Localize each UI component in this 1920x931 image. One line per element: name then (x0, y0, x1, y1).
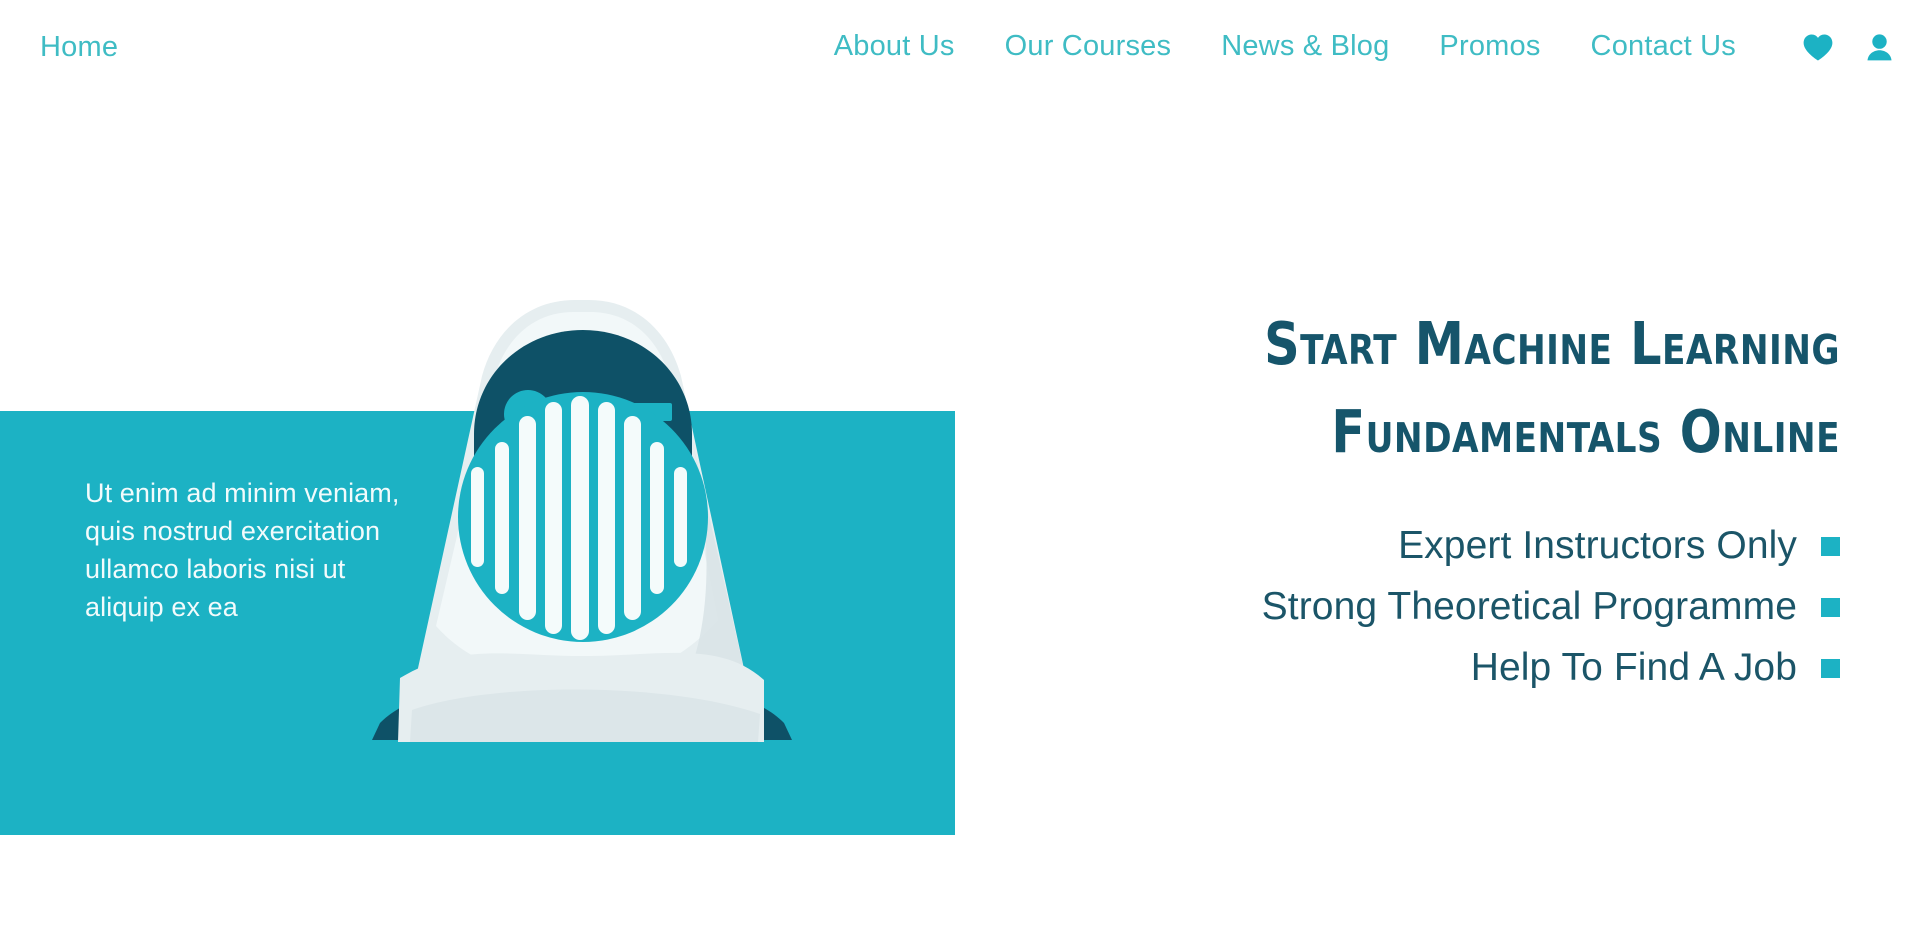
page-title: Start Machine Learning Fundamentals Onli… (1059, 300, 1840, 476)
feature-label: Expert Instructors Only (1398, 524, 1797, 568)
feature-item-theoretical-programme: Strong Theoretical Programme (1262, 585, 1840, 629)
feature-item-find-a-job: Help To Find A Job (1471, 646, 1840, 690)
heart-icon[interactable] (1803, 34, 1833, 61)
main-navigation: Home About Us Our Courses News & Blog Pr… (0, 0, 1920, 96)
feature-item-expert-instructors: Expert Instructors Only (1398, 524, 1840, 568)
square-bullet-icon (1821, 659, 1840, 678)
landing-page: Home About Us Our Courses News & Blog Pr… (0, 0, 1920, 931)
feature-label: Strong Theoretical Programme (1262, 585, 1797, 629)
robot-illustration (340, 290, 920, 790)
hero-content: Start Machine Learning Fundamentals Onli… (1000, 300, 1840, 690)
headline-line-2: Fundamentals Online (1059, 388, 1840, 476)
nav-icon-group (1803, 34, 1892, 61)
feature-label: Help To Find A Job (1471, 646, 1797, 690)
feature-list: Expert Instructors Only Strong Theoretic… (1000, 524, 1840, 690)
nav-item-promos[interactable]: Promos (1414, 30, 1565, 63)
square-bullet-icon (1821, 598, 1840, 617)
nav-links-group: About Us Our Courses News & Blog Promos … (809, 30, 1892, 63)
headline-line-1: Start Machine Learning (1264, 309, 1840, 378)
nav-item-contact-us[interactable]: Contact Us (1566, 30, 1761, 63)
user-icon[interactable] (1867, 34, 1892, 61)
nav-item-home[interactable]: Home (40, 31, 118, 64)
nav-item-about-us[interactable]: About Us (809, 30, 980, 63)
square-bullet-icon (1821, 537, 1840, 556)
nav-item-news-and-blog[interactable]: News & Blog (1196, 30, 1414, 63)
nav-item-our-courses[interactable]: Our Courses (980, 30, 1197, 63)
